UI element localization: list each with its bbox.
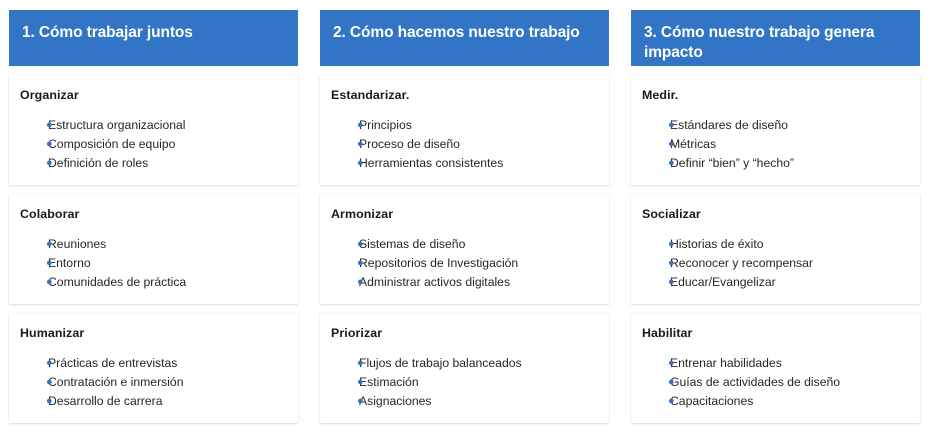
bullet-list: ● Estructura organizacional ● Composició… [19, 116, 288, 173]
list-item: ● Reuniones [19, 235, 288, 254]
card-humanizar: Humanizar ● Prácticas de entrevistas ● C… [9, 313, 298, 423]
list-item-label: Estándares de diseño [670, 119, 910, 131]
list-item-label: Reconocer y recompensar [670, 257, 910, 269]
bullet-dot-icon: ● [641, 239, 670, 250]
list-item-label: Métricas [670, 138, 910, 150]
list-item: ● Estándares de diseño [641, 116, 910, 135]
column-2: 2. Cómo hacemos nuestro trabajo Estandar… [320, 10, 609, 423]
card-title: Colaborar [19, 207, 288, 221]
list-item: ● Desarrollo de carrera [19, 392, 288, 411]
card-colaborar: Colaborar ● Reuniones ● Entorno ● Comuni… [9, 194, 298, 304]
bullet-list: ● Historias de éxito ● Reconocer y recom… [641, 235, 910, 292]
card-title: Humanizar [19, 326, 288, 340]
bullet-dot-icon: ● [19, 120, 48, 131]
list-item-label: Flujos de trabajo balanceados [359, 357, 599, 369]
bullet-dot-icon: ● [330, 120, 359, 131]
list-item: ● Entorno [19, 254, 288, 273]
list-item: ● Proceso de diseño [330, 135, 599, 154]
three-column-framework-board: 1. Cómo trabajar juntos Organizar ● Estr… [0, 0, 930, 431]
list-item: ● Guías de actividades de diseño [641, 373, 910, 392]
list-item: ● Herramientas consistentes [330, 154, 599, 173]
card-medir: Medir. ● Estándares de diseño ● Métricas… [631, 75, 920, 185]
list-item: ● Principios [330, 116, 599, 135]
bullet-dot-icon: ● [19, 377, 48, 388]
list-item: ● Contratación e inmersión [19, 373, 288, 392]
card-title: Armonizar [330, 207, 599, 221]
bullet-dot-icon: ● [641, 258, 670, 269]
list-item-label: Composición de equipo [48, 138, 288, 150]
bullet-dot-icon: ● [330, 277, 359, 288]
list-item: ● Métricas [641, 135, 910, 154]
bullet-dot-icon: ● [19, 396, 48, 407]
bullet-dot-icon: ● [330, 258, 359, 269]
bullet-dot-icon: ● [330, 139, 359, 150]
list-item-label: Definición de roles [48, 157, 288, 169]
bullet-dot-icon: ● [641, 158, 670, 169]
card-title: Medir. [641, 88, 910, 102]
list-item: ● Historias de éxito [641, 235, 910, 254]
list-item-label: Entrenar habilidades [670, 357, 910, 369]
bullet-dot-icon: ● [330, 239, 359, 250]
list-item: ● Educar/Evangelizar [641, 273, 910, 292]
bullet-dot-icon: ● [19, 358, 48, 369]
list-item: ● Repositorios de Investigación [330, 254, 599, 273]
bullet-list: ● Entrenar habilidades ● Guías de activi… [641, 354, 910, 411]
list-item-label: Sistemas de diseño [359, 238, 599, 250]
bullet-list: ● Estándares de diseño ● Métricas ● Defi… [641, 116, 910, 173]
list-item: ● Definición de roles [19, 154, 288, 173]
card-title: Socializar [641, 207, 910, 221]
card-organizar: Organizar ● Estructura organizacional ● … [9, 75, 298, 185]
card-priorizar: Priorizar ● Flujos de trabajo balanceado… [320, 313, 609, 423]
list-item-label: Principios [359, 119, 599, 131]
bullet-dot-icon: ● [19, 258, 48, 269]
card-habilitar: Habilitar ● Entrenar habilidades ● Guías… [631, 313, 920, 423]
card-title: Estandarizar. [330, 88, 599, 102]
list-item-label: Educar/Evangelizar [670, 276, 910, 288]
bullet-dot-icon: ● [330, 158, 359, 169]
column-2-header: 2. Cómo hacemos nuestro trabajo [320, 10, 609, 66]
bullet-dot-icon: ● [641, 120, 670, 131]
column-1-header: 1. Cómo trabajar juntos [9, 10, 298, 66]
list-item-label: Historias de éxito [670, 238, 910, 250]
bullet-dot-icon: ● [641, 139, 670, 150]
bullet-list: ● Sistemas de diseño ● Repositorios de I… [330, 235, 599, 292]
bullet-dot-icon: ● [641, 396, 670, 407]
list-item-label: Desarrollo de carrera [48, 395, 288, 407]
list-item: ● Estructura organizacional [19, 116, 288, 135]
card-title: Habilitar [641, 326, 910, 340]
bullet-dot-icon: ● [641, 277, 670, 288]
list-item-label: Contratación e inmersión [48, 376, 288, 388]
column-1: 1. Cómo trabajar juntos Organizar ● Estr… [9, 10, 298, 423]
list-item-label: Entorno [48, 257, 288, 269]
list-item-label: Guías de actividades de diseño [670, 376, 910, 388]
list-item: ● Flujos de trabajo balanceados [330, 354, 599, 373]
bullet-dot-icon: ● [330, 396, 359, 407]
list-item-label: Estimación [359, 376, 599, 388]
list-item: ● Administrar activos digitales [330, 273, 599, 292]
bullet-list: ● Principios ● Proceso de diseño ● Herra… [330, 116, 599, 173]
bullet-dot-icon: ● [19, 139, 48, 150]
list-item-label: Definir “bien” y “hecho” [670, 157, 910, 169]
bullet-dot-icon: ● [19, 239, 48, 250]
bullet-dot-icon: ● [641, 377, 670, 388]
bullet-list: ● Reuniones ● Entorno ● Comunidades de p… [19, 235, 288, 292]
column-3-header: 3. Cómo nuestro trabajo genera impacto [631, 10, 920, 66]
list-item: ● Reconocer y recompensar [641, 254, 910, 273]
list-item-label: Reuniones [48, 238, 288, 250]
list-item-label: Estructura organizacional [48, 119, 288, 131]
list-item: ● Estimación [330, 373, 599, 392]
list-item: ● Capacitaciones [641, 392, 910, 411]
list-item-label: Comunidades de práctica [48, 276, 288, 288]
list-item-label: Repositorios de Investigación [359, 257, 599, 269]
list-item-label: Proceso de diseño [359, 138, 599, 150]
bullet-dot-icon: ● [330, 377, 359, 388]
bullet-list: ● Prácticas de entrevistas ● Contratació… [19, 354, 288, 411]
bullet-list: ● Flujos de trabajo balanceados ● Estima… [330, 354, 599, 411]
card-estandarizar: Estandarizar. ● Principios ● Proceso de … [320, 75, 609, 185]
list-item: ● Definir “bien” y “hecho” [641, 154, 910, 173]
list-item-label: Administrar activos digitales [359, 276, 599, 288]
bullet-dot-icon: ● [641, 358, 670, 369]
list-item-label: Asignaciones [359, 395, 599, 407]
list-item-label: Herramientas consistentes [359, 157, 599, 169]
list-item: ● Prácticas de entrevistas [19, 354, 288, 373]
bullet-dot-icon: ● [330, 358, 359, 369]
list-item: ● Sistemas de diseño [330, 235, 599, 254]
list-item-label: Capacitaciones [670, 395, 910, 407]
list-item-label: Prácticas de entrevistas [48, 357, 288, 369]
card-title: Organizar [19, 88, 288, 102]
card-socializar: Socializar ● Historias de éxito ● Recono… [631, 194, 920, 304]
list-item: ● Composición de equipo [19, 135, 288, 154]
bullet-dot-icon: ● [19, 158, 48, 169]
column-3: 3. Cómo nuestro trabajo genera impacto M… [631, 10, 920, 423]
list-item: ● Entrenar habilidades [641, 354, 910, 373]
bullet-dot-icon: ● [19, 277, 48, 288]
card-armonizar: Armonizar ● Sistemas de diseño ● Reposit… [320, 194, 609, 304]
list-item: ● Asignaciones [330, 392, 599, 411]
card-title: Priorizar [330, 326, 599, 340]
list-item: ● Comunidades de práctica [19, 273, 288, 292]
